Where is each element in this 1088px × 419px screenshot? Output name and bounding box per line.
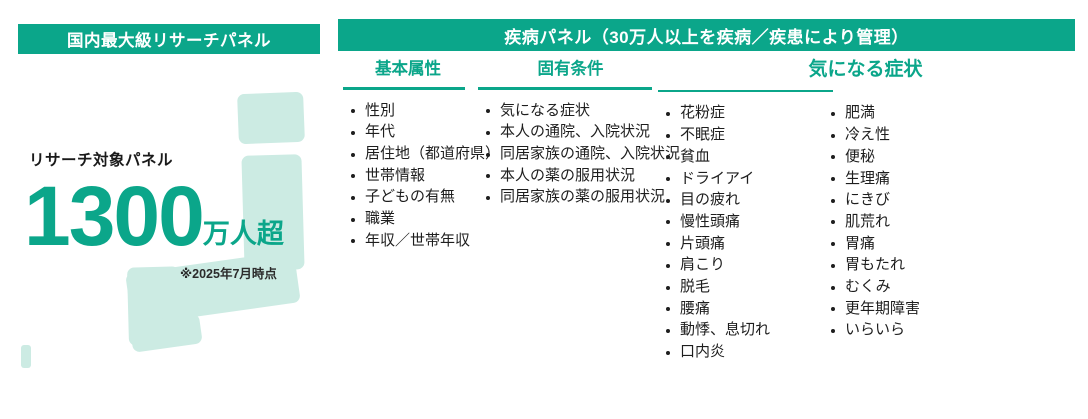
list-item: 腰痛 xyxy=(664,298,829,320)
list-item: 脱毛 xyxy=(664,276,829,298)
list-symptoms-b: 肥満 冷え性 便秘 生理痛 にきび 肌荒れ 胃痛 胃もたれ むくみ 更年期障害 … xyxy=(829,102,989,362)
list-item: 冷え性 xyxy=(829,124,989,146)
list-item: 生理痛 xyxy=(829,168,989,190)
column-specific-conditions: 固有条件 気になる症状 本人の通院、入院状況 同居家族の通院、入院状況 本人の薬… xyxy=(478,60,663,208)
list-item: 年代 xyxy=(349,121,473,143)
column-title-specific-conditions: 固有条件 xyxy=(478,60,663,87)
research-panel-label: リサーチ対象パネル xyxy=(29,148,173,170)
list-item: 職業 xyxy=(349,208,473,230)
list-item: 性別 xyxy=(349,100,473,122)
list-item: 動悸、息切れ xyxy=(664,319,829,341)
list-item: 同居家族の通院、入院状況 xyxy=(484,143,663,165)
column-symptoms-of-concern: 気になる症状 花粉症 不眠症 貧血 ドライアイ 目の疲れ 慢性頭痛 片頭痛 肩こ… xyxy=(658,60,1073,363)
list-item: にきび xyxy=(829,189,989,211)
list-basic-attributes: 性別 年代 居住地（都道府県） 世帯情報 子どもの有無 職業 年収／世帯年収 xyxy=(349,100,473,252)
list-item: 年収／世帯年収 xyxy=(349,230,473,252)
column-rule-symptoms-of-concern xyxy=(658,90,833,93)
disease-panel-section: 基本属性 性別 年代 居住地（都道府県） 世帯情報 子どもの有無 職業 年収／世… xyxy=(338,60,1078,410)
list-item: 肩こり xyxy=(664,254,829,276)
list-specific-conditions: 気になる症状 本人の通院、入院状況 同居家族の通院、入院状況 本人の薬の服用状況… xyxy=(484,100,663,209)
list-item: 世帯情報 xyxy=(349,165,473,187)
disease-panel-header: 疾病パネル（30万人以上を疾病／疾患により管理） xyxy=(338,19,1075,51)
list-item: 胃痛 xyxy=(829,233,989,255)
panel-count-number: 1300 xyxy=(24,177,203,255)
list-item: 本人の薬の服用状況 xyxy=(484,165,663,187)
list-item: 不眠症 xyxy=(664,124,829,146)
column-rule-basic-attributes xyxy=(343,87,465,90)
list-item: 居住地（都道府県） xyxy=(349,143,473,165)
as-of-note: ※2025年7月時点 xyxy=(180,263,277,282)
decorative-shape-1 xyxy=(237,92,305,144)
list-item: 同居家族の薬の服用状況 xyxy=(484,186,663,208)
column-basic-attributes: 基本属性 性別 年代 居住地（都道府県） 世帯情報 子どもの有無 職業 年収／世… xyxy=(343,60,473,252)
list-item: 貧血 xyxy=(664,146,829,168)
list-item: 花粉症 xyxy=(664,102,829,124)
list-item: むくみ xyxy=(829,276,989,298)
panel-count-unit: 万人超 xyxy=(203,221,284,255)
list-item: 子どもの有無 xyxy=(349,186,473,208)
column-title-symptoms-of-concern: 気になる症状 xyxy=(658,60,1073,90)
decorative-shape-6 xyxy=(21,345,31,368)
list-item: 更年期障害 xyxy=(829,298,989,320)
list-item: 胃もたれ xyxy=(829,254,989,276)
list-item: 目の疲れ xyxy=(664,189,829,211)
list-item: 本人の通院、入院状況 xyxy=(484,121,663,143)
list-item: 肌荒れ xyxy=(829,211,989,233)
column-title-basic-attributes: 基本属性 xyxy=(343,60,473,87)
list-item: いらいら xyxy=(829,319,989,341)
column-rule-specific-conditions xyxy=(478,87,652,90)
list-item: 口内炎 xyxy=(664,341,829,363)
list-item: 便秘 xyxy=(829,146,989,168)
list-symptoms-a: 花粉症 不眠症 貧血 ドライアイ 目の疲れ 慢性頭痛 片頭痛 肩こり 脱毛 腰痛… xyxy=(664,102,829,362)
list-item: 片頭痛 xyxy=(664,233,829,255)
list-item: ドライアイ xyxy=(664,168,829,190)
list-item: 慢性頭痛 xyxy=(664,211,829,233)
symptom-subcolumns: 花粉症 不眠症 貧血 ドライアイ 目の疲れ 慢性頭痛 片頭痛 肩こり 脱毛 腰痛… xyxy=(658,102,1073,362)
infographic-root: 国内最大級リサーチパネル リサーチ対象パネル 1300 万人超 ※2025年7月… xyxy=(0,0,1088,419)
list-item: 気になる症状 xyxy=(484,100,663,122)
list-item: 肥満 xyxy=(829,102,989,124)
panel-count-group: 1300 万人超 xyxy=(24,177,284,255)
research-panel-section: 国内最大級リサーチパネル リサーチ対象パネル 1300 万人超 ※2025年7月… xyxy=(0,0,330,419)
left-panel-header: 国内最大級リサーチパネル xyxy=(18,24,320,54)
